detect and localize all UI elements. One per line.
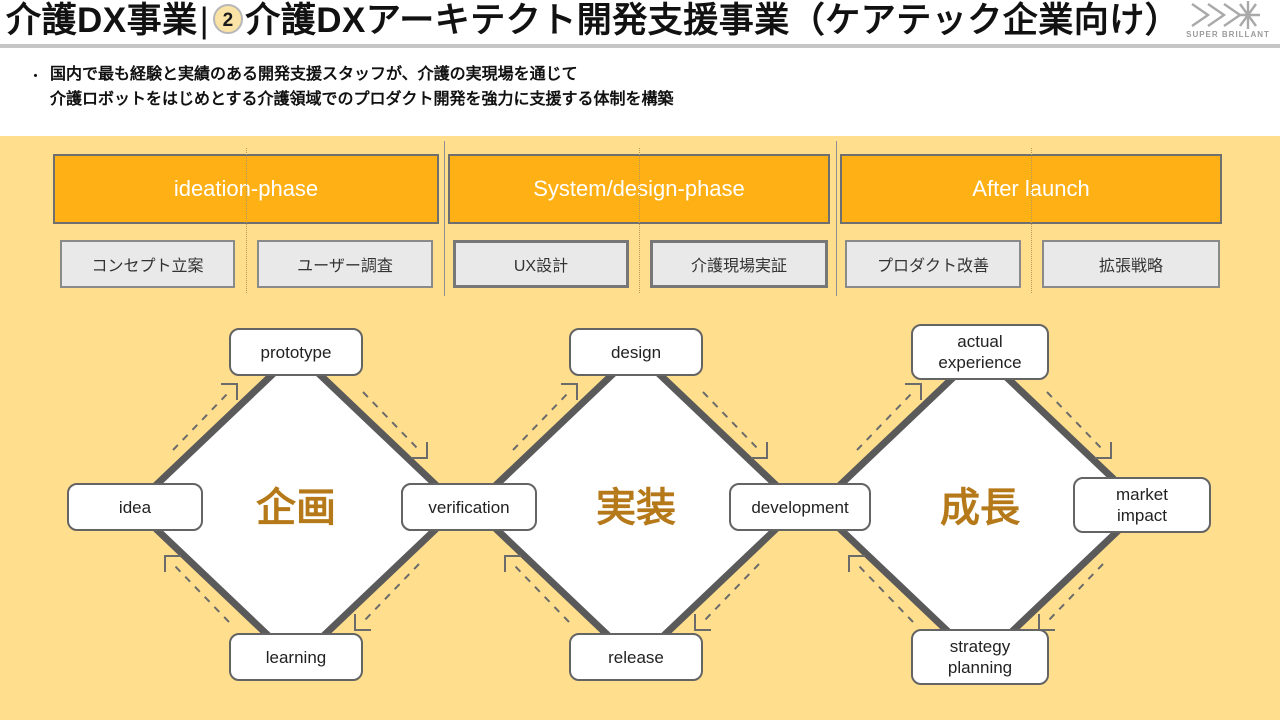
cycle-node-left[interactable]: verification (401, 483, 537, 531)
phase-separator-2 (836, 141, 837, 296)
cycle-node-top[interactable]: prototype (229, 328, 363, 376)
step-box-label: プロダクト改善 (877, 252, 989, 276)
bullet-block: ・ 国内で最も経験と実績のある開発支援スタッフが、介護の実現場を通じて 介護ロボ… (28, 62, 1028, 112)
step-box-ux-design[interactable]: UX設計 (453, 240, 629, 288)
cycle-node-top[interactable]: design (569, 328, 703, 376)
cycle-node-label: design (611, 342, 661, 363)
cycle-node-bottom[interactable]: release (569, 633, 703, 681)
cycle-node-label: prototype (261, 342, 332, 363)
bullet-lines: 国内で最も経験と実績のある開発支援スタッフが、介護の実現場を通じて 介護ロボット… (50, 62, 1028, 112)
cycle-node-label: market impact (1116, 484, 1168, 526)
cycle-node-label: idea (119, 497, 151, 518)
bullet-line-2: 介護ロボットをはじめとする介護領域でのプロダクト開発を強力に支援する体制を構築 (50, 87, 1028, 112)
super-brillant-logo: SUPER BRILLANT (1182, 0, 1274, 46)
cycle-node-top[interactable]: actual experience (911, 324, 1049, 380)
cycle-node-right[interactable]: market impact (1073, 477, 1211, 533)
cycle-node-bottom[interactable]: learning (229, 633, 363, 681)
step-box-label: 拡張戦略 (1099, 252, 1163, 276)
slide: 介護DX事業|2介護DXアーキテクト開発支援事業（ケアテック企業向け） SUPE… (0, 0, 1280, 720)
cycle-node-bottom[interactable]: strategy planning (911, 629, 1049, 685)
title-divider: | (198, 1, 212, 40)
cycle-node-left[interactable]: development (729, 483, 871, 531)
section-number-badge: 2 (213, 4, 243, 34)
step-box-label: 介護現場実証 (691, 252, 787, 276)
logo-mark-icon (1182, 0, 1274, 32)
step-box-label: UX設計 (514, 252, 568, 276)
page-title: 介護DX事業|2介護DXアーキテクト開発支援事業（ケアテック企業向け） (6, 0, 1180, 44)
step-box-concept[interactable]: コンセプト立案 (60, 240, 235, 288)
step-box-expansion-strategy[interactable]: 拡張戦略 (1042, 240, 1220, 288)
cycle-node-label: learning (266, 647, 327, 668)
step-box-field-validation[interactable]: 介護現場実証 (650, 240, 828, 288)
cycle-node-label: development (751, 497, 848, 518)
title-left: 介護DX事業 (6, 1, 198, 40)
cycle-node-label: strategy planning (948, 636, 1012, 678)
step-box-user-research[interactable]: ユーザー調査 (257, 240, 433, 288)
step-box-product-improvement[interactable]: プロダクト改善 (845, 240, 1021, 288)
phase-separator-1 (444, 141, 445, 296)
step-box-label: コンセプト立案 (91, 252, 203, 276)
step-box-label: ユーザー調査 (297, 252, 393, 276)
cycle-node-label: verification (428, 497, 509, 518)
logo-wordmark: SUPER BRILLANT (1182, 30, 1274, 39)
cycle-node-label: actual experience (938, 331, 1021, 373)
slide-header: 介護DX事業|2介護DXアーキテクト開発支援事業（ケアテック企業向け） SUPE… (0, 0, 1280, 46)
bullet-marker: ・ (28, 65, 43, 86)
cycle-node-left[interactable]: idea (67, 483, 203, 531)
title-right: 介護DXアーキテクト開発支援事業（ケアテック企業向け） (245, 1, 1180, 40)
cycle-node-label: release (608, 647, 664, 668)
cycle-growth: 成長 actual experience market impact strat… (765, 300, 1195, 712)
header-divider (0, 44, 1280, 48)
bullet-line-1: 国内で最も経験と実績のある開発支援スタッフが、介護の実現場を通じて (50, 62, 1028, 87)
